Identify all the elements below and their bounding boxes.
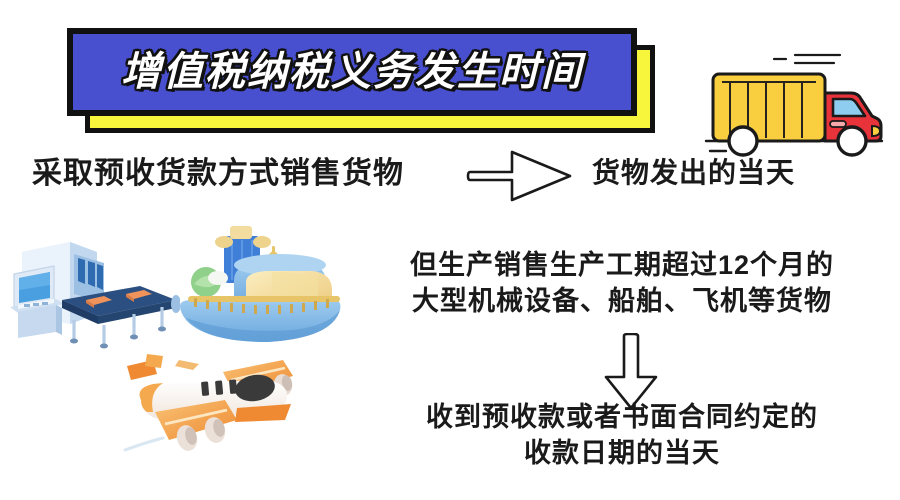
page-title: 增值税纳税义务发生时间	[121, 52, 583, 92]
infographic-canvas: 增值税纳税义务发生时间	[0, 0, 900, 500]
ship-illustration	[172, 222, 347, 347]
title-banner: 增值税纳税义务发生时间	[67, 28, 637, 116]
truck-illustration	[700, 48, 890, 158]
row3-line1: 收到预收款或者书面合同约定的	[362, 400, 882, 436]
row2-line2: 大型机械设备、船舶、飞机等货物	[362, 284, 882, 320]
row2-text-block: 但生产销售生产工期超过12个月的 大型机械设备、船舶、飞机等货物	[362, 248, 882, 319]
row1-right-text: 货物发出的当天	[592, 156, 795, 190]
row3-text-block: 收到预收款或者书面合同约定的 收款日期的当天	[362, 400, 882, 471]
xray-scanner-illustration	[0, 228, 180, 350]
arrow-right-icon	[466, 150, 574, 204]
title-banner-box: 增值税纳税义务发生时间	[67, 28, 637, 116]
row3-line2: 收款日期的当天	[362, 436, 882, 472]
row1-left-text: 采取预收货款方式销售货物	[32, 156, 404, 193]
airplane-illustration	[105, 338, 300, 468]
row2-line1: 但生产销售生产工期超过12个月的	[362, 248, 882, 284]
